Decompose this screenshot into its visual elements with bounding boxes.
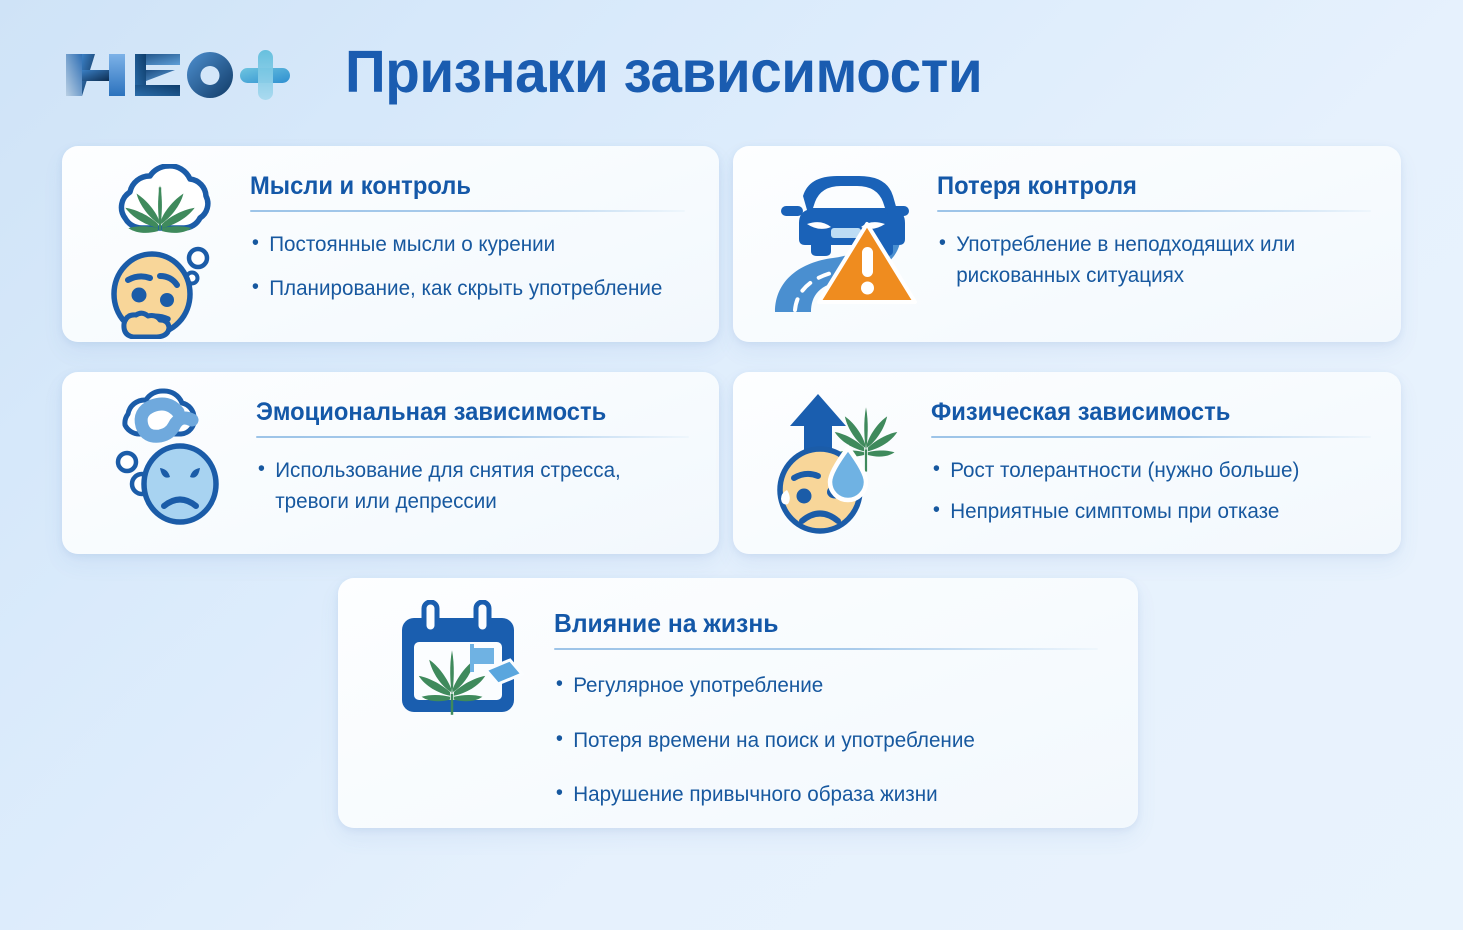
card-life: Влияние на жизнь Регулярное употребление… xyxy=(338,578,1138,828)
list-item: Планирование, как скрыть употребление xyxy=(250,273,668,304)
icon-wrap-life xyxy=(338,578,544,720)
icon-wrap-thoughts xyxy=(62,146,244,339)
heading-divider xyxy=(256,436,689,438)
card-heading-emotional: Эмоциональная зависимость xyxy=(256,398,667,427)
card-heading-physical: Физическая зависимость xyxy=(931,398,1349,427)
heading-divider xyxy=(250,210,685,212)
calendar-with-cannabis-leaf-icon xyxy=(394,600,524,720)
bullet-list-thoughts: Постоянные мысли о курении Планирование,… xyxy=(250,229,685,303)
card-control: Потеря контроля Употребление в неподходя… xyxy=(733,146,1401,342)
icon-wrap-emotional xyxy=(62,372,250,538)
infographic-poster: Признаки зависимости xyxy=(0,0,1463,930)
body-control: Потеря контроля Употребление в неподходя… xyxy=(929,146,1401,290)
card-thoughts: Мысли и контроль Постоянные мысли о куре… xyxy=(62,146,719,342)
page-title: Признаки зависимости xyxy=(345,38,982,106)
card-heading-life: Влияние на жизнь xyxy=(554,608,1071,639)
sad-blue-face-with-thought-bubble-icon xyxy=(104,388,236,538)
list-item: Потеря времени на поиск и употребление xyxy=(554,725,1076,756)
list-item: Регулярное употребление xyxy=(554,670,1076,701)
heading-divider xyxy=(931,436,1371,438)
icon-wrap-physical xyxy=(733,372,923,541)
icon-wrap-control xyxy=(733,146,929,322)
sweating-face-with-up-arrow-and-cannabis-leaf-icon xyxy=(762,386,914,541)
list-item: Нарушение привычного образа жизни xyxy=(554,779,1076,810)
bullet-list-emotional: Использование для снятия стресса, тревог… xyxy=(256,455,689,516)
card-emotional: Эмоциональная зависимость Использование … xyxy=(62,372,719,554)
heading-divider xyxy=(937,210,1371,212)
list-item: Рост толерантности (нужно больше) xyxy=(931,455,1353,486)
thinking-face-with-cannabis-thought-bubble-icon xyxy=(94,164,234,339)
card-heading-control: Потеря контроля xyxy=(937,172,1349,201)
bullet-list-life: Регулярное употребление Потеря времени н… xyxy=(554,670,1098,810)
card-heading-thoughts: Мысли и контроль xyxy=(250,172,663,201)
body-life: Влияние на жизнь Регулярное употребление… xyxy=(544,578,1138,828)
list-item: Неприятные симптомы при отказе xyxy=(931,496,1353,527)
heading-divider xyxy=(554,648,1098,650)
bullet-list-control: Употребление в неподходящих или рискован… xyxy=(937,229,1371,290)
poster-header: Признаки зависимости xyxy=(0,0,1463,140)
neo-plus-logo xyxy=(62,44,292,106)
car-on-road-with-warning-triangle-icon xyxy=(767,162,922,322)
body-thoughts: Мысли и контроль Постоянные мысли о куре… xyxy=(244,146,719,316)
list-item: Постоянные мысли о курении xyxy=(250,229,668,260)
list-item: Употребление в неподходящих или рискован… xyxy=(937,229,1354,290)
bullet-list-physical: Рост толерантности (нужно больше) Неприя… xyxy=(931,455,1371,526)
card-physical: Физическая зависимость Рост толерантност… xyxy=(733,372,1401,554)
body-emotional: Эмоциональная зависимость Использование … xyxy=(250,372,719,516)
list-item: Использование для снятия стресса, тревог… xyxy=(256,455,672,516)
body-physical: Физическая зависимость Рост толерантност… xyxy=(923,372,1401,536)
